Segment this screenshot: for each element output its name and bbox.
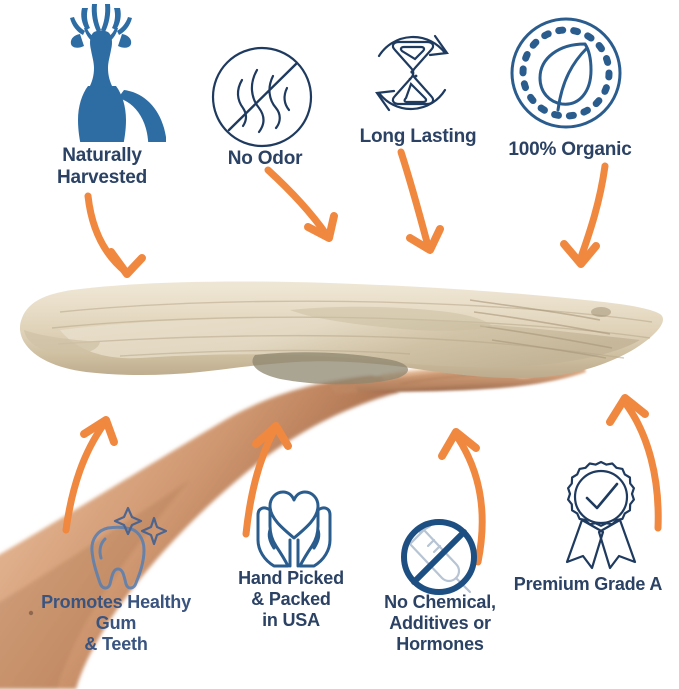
antler-chew bbox=[20, 281, 663, 384]
leaf-badge-icon bbox=[507, 14, 625, 132]
label-long-lasting: Long Lasting bbox=[338, 126, 498, 148]
label-premium-grade: Premium Grade A bbox=[496, 574, 679, 595]
deer-icon bbox=[36, 2, 166, 142]
no-odor-icon bbox=[209, 44, 315, 150]
label-hand-picked: Hand Picked & Packed in USA bbox=[216, 568, 366, 631]
product-infographic: Naturally Harvested No Odor bbox=[0, 0, 679, 689]
heart-in-hands-icon bbox=[248, 478, 340, 570]
no-syringe-icon bbox=[394, 512, 484, 602]
hourglass-rotation-icon bbox=[357, 18, 467, 128]
label-naturally-harvested: Naturally Harvested bbox=[22, 145, 182, 189]
label-promotes-teeth: Promotes Healthy Gum & Teeth bbox=[16, 592, 216, 655]
label-organic: 100% Organic bbox=[490, 139, 650, 161]
label-no-odor: No Odor bbox=[197, 148, 333, 170]
sparkling-tooth-icon bbox=[78, 500, 176, 598]
label-no-chemical: No Chemical, Additives or Hormones bbox=[365, 592, 515, 655]
award-ribbon-icon bbox=[551, 458, 651, 570]
